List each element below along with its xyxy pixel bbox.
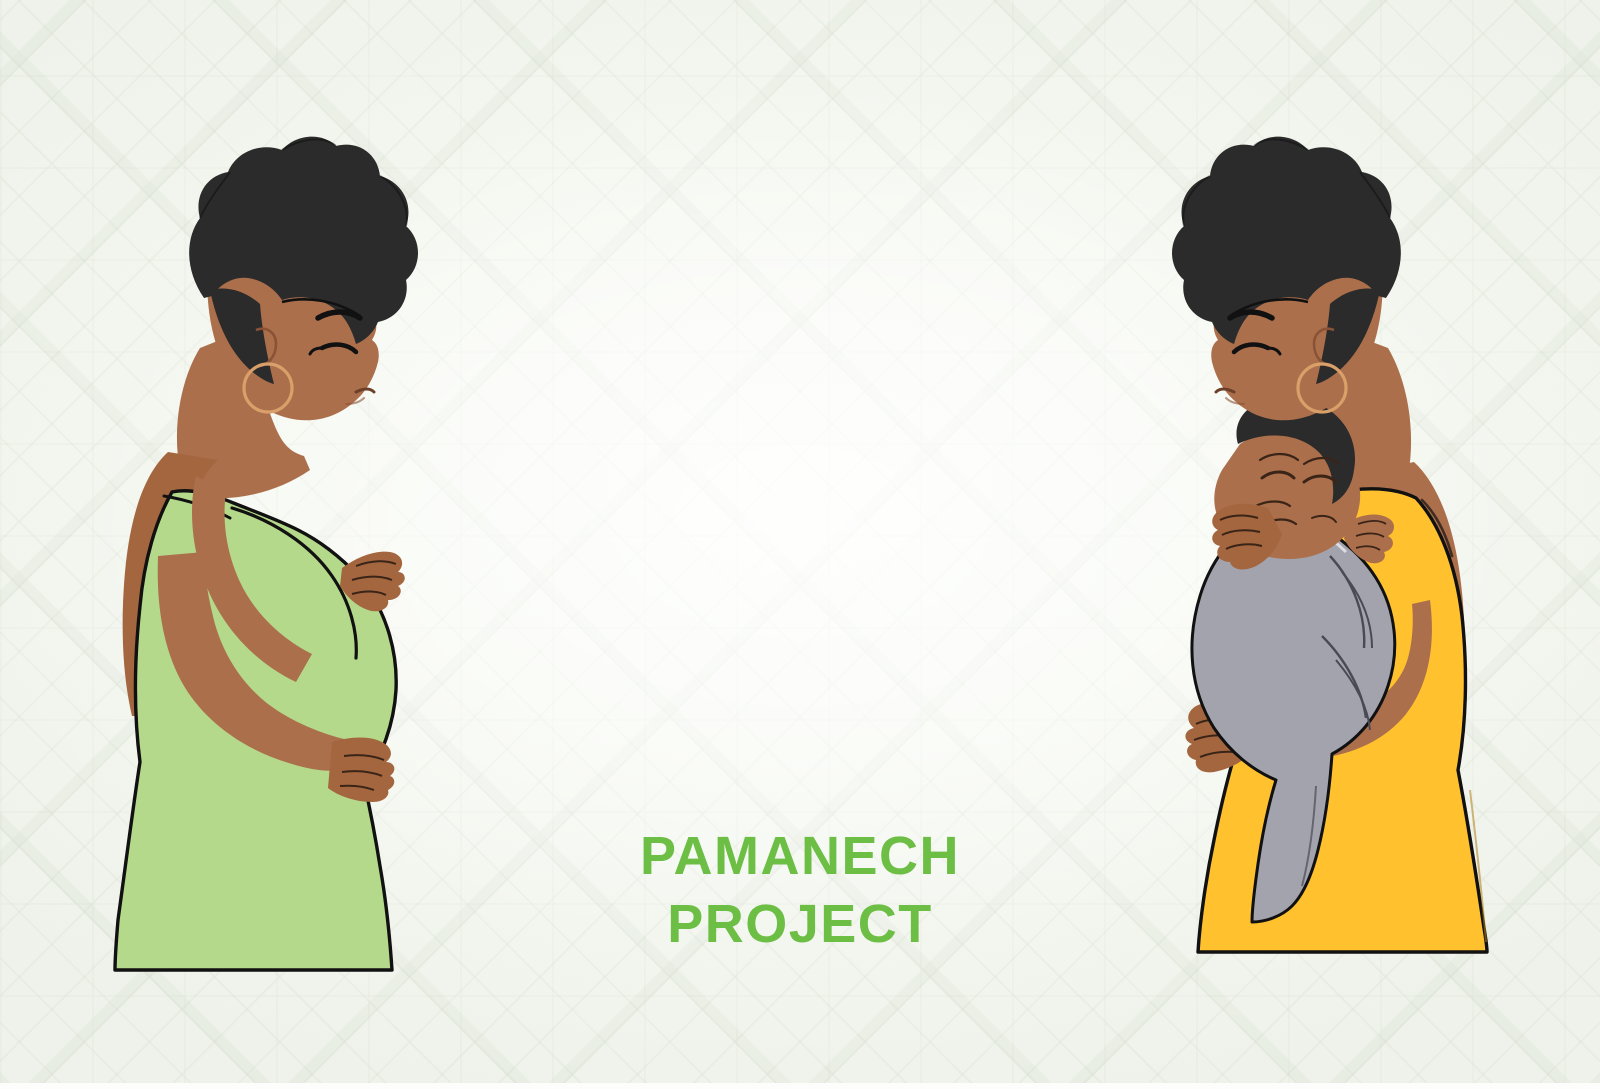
lips — [356, 389, 374, 392]
bottom-edge-strip — [0, 1083, 1600, 1089]
illustration-mother-with-baby — [1090, 0, 1530, 1089]
lower-hand-shape — [328, 738, 394, 803]
illustration-pregnant-woman — [60, 0, 480, 1089]
mother-lips — [1216, 389, 1234, 392]
poster-canvas: PAMANECH PROJECT — [0, 0, 1600, 1089]
